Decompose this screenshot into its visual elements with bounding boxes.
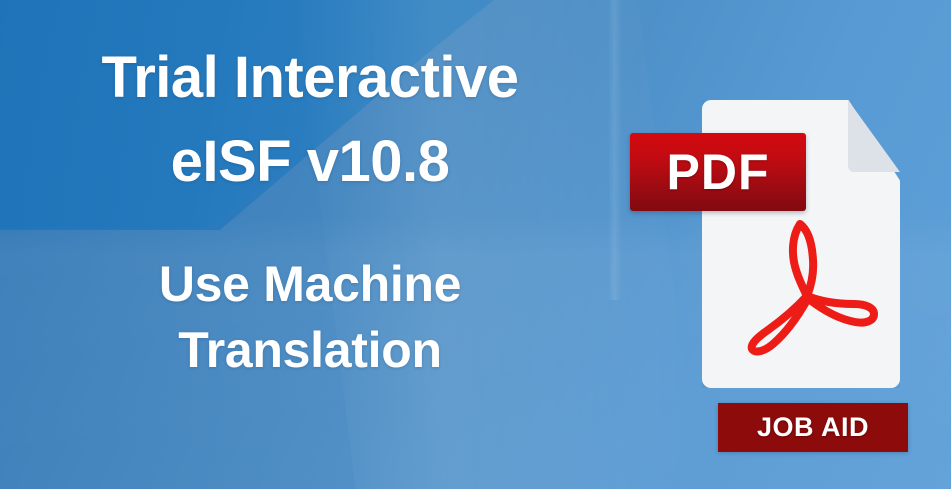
subhead-line-1: Use Machine — [159, 252, 461, 316]
pdf-format-badge: PDF — [630, 133, 806, 211]
job-aid-banner: JOB AID — [718, 403, 908, 452]
promo-banner: Trial Interactive eISF v10.8 Use Machine… — [0, 0, 951, 489]
subhead-line-2: Translation — [178, 318, 441, 382]
pdf-folded-corner-icon — [848, 100, 900, 172]
pdf-badge-label: PDF — [667, 147, 770, 197]
headline-line-2: eISF v10.8 — [171, 124, 450, 200]
banner-text-block: Trial Interactive eISF v10.8 Use Machine… — [0, 0, 620, 489]
headline-line-1: Trial Interactive — [101, 40, 518, 116]
acrobat-swirl-icon — [738, 212, 888, 362]
pdf-job-aid-icon: PDF JOB AID — [620, 90, 930, 470]
job-aid-label: JOB AID — [757, 414, 869, 441]
